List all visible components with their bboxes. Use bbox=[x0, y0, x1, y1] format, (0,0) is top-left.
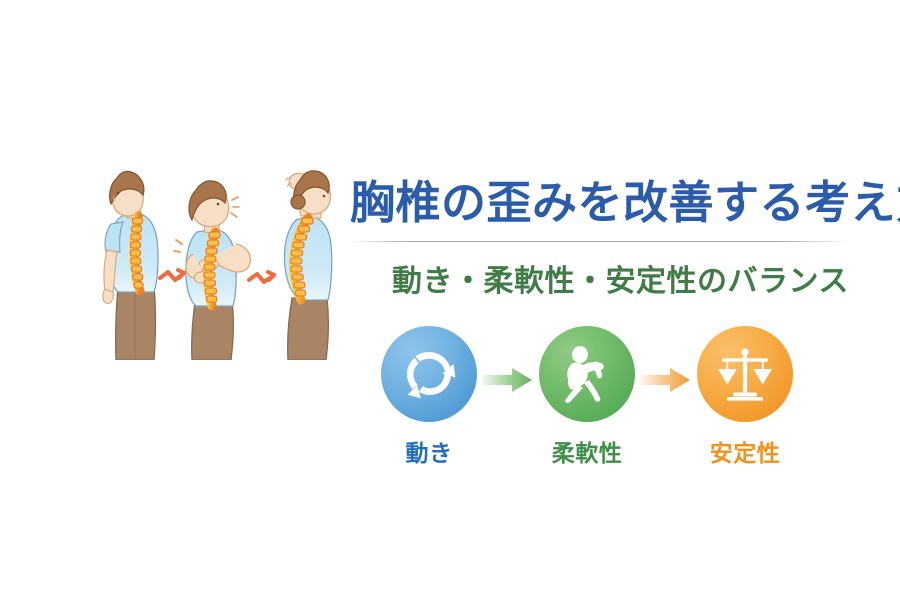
arrow-right-green bbox=[480, 332, 536, 428]
page-title: 胸椎の歪みを改善する考え方 bbox=[350, 176, 870, 229]
infographic-canvas: 胸椎の歪みを改善する考え方 動き・柔軟性・安定性のバランス bbox=[0, 0, 900, 600]
flow-label-movement: 動き bbox=[406, 434, 453, 468]
badge-movement[interactable] bbox=[381, 326, 477, 422]
zigzag-arrow-1 bbox=[160, 270, 184, 280]
illustration-three-figures bbox=[96, 160, 366, 360]
flow-node-flexibility[interactable]: 柔軟性 bbox=[536, 326, 638, 468]
zigzag-arrow-2 bbox=[249, 272, 274, 282]
figure-standing-side bbox=[103, 171, 158, 360]
figure-overhead-stretch bbox=[284, 171, 331, 360]
page-subtitle: 動き・柔軟性・安定性のバランス bbox=[392, 256, 870, 300]
flow-label-flexibility: 柔軟性 bbox=[552, 434, 623, 468]
badge-flexibility[interactable] bbox=[539, 326, 635, 422]
title-divider bbox=[350, 241, 850, 242]
balance-scales-icon bbox=[716, 345, 774, 403]
stretching-person-icon bbox=[559, 345, 615, 403]
flow-label-stability: 安定性 bbox=[710, 434, 781, 468]
flow-node-movement[interactable]: 動き bbox=[378, 326, 480, 468]
heading-block: 胸椎の歪みを改善する考え方 動き・柔軟性・安定性のバランス bbox=[350, 176, 870, 300]
arrow-right-orange bbox=[638, 332, 694, 428]
figure-twisting bbox=[174, 181, 250, 360]
cycle-arrows-icon bbox=[400, 345, 458, 403]
concept-flow-diagram: 動き bbox=[378, 326, 803, 466]
badge-stability[interactable] bbox=[697, 326, 793, 422]
flow-row: 動き bbox=[378, 326, 803, 468]
flow-node-stability[interactable]: 安定性 bbox=[694, 326, 796, 468]
